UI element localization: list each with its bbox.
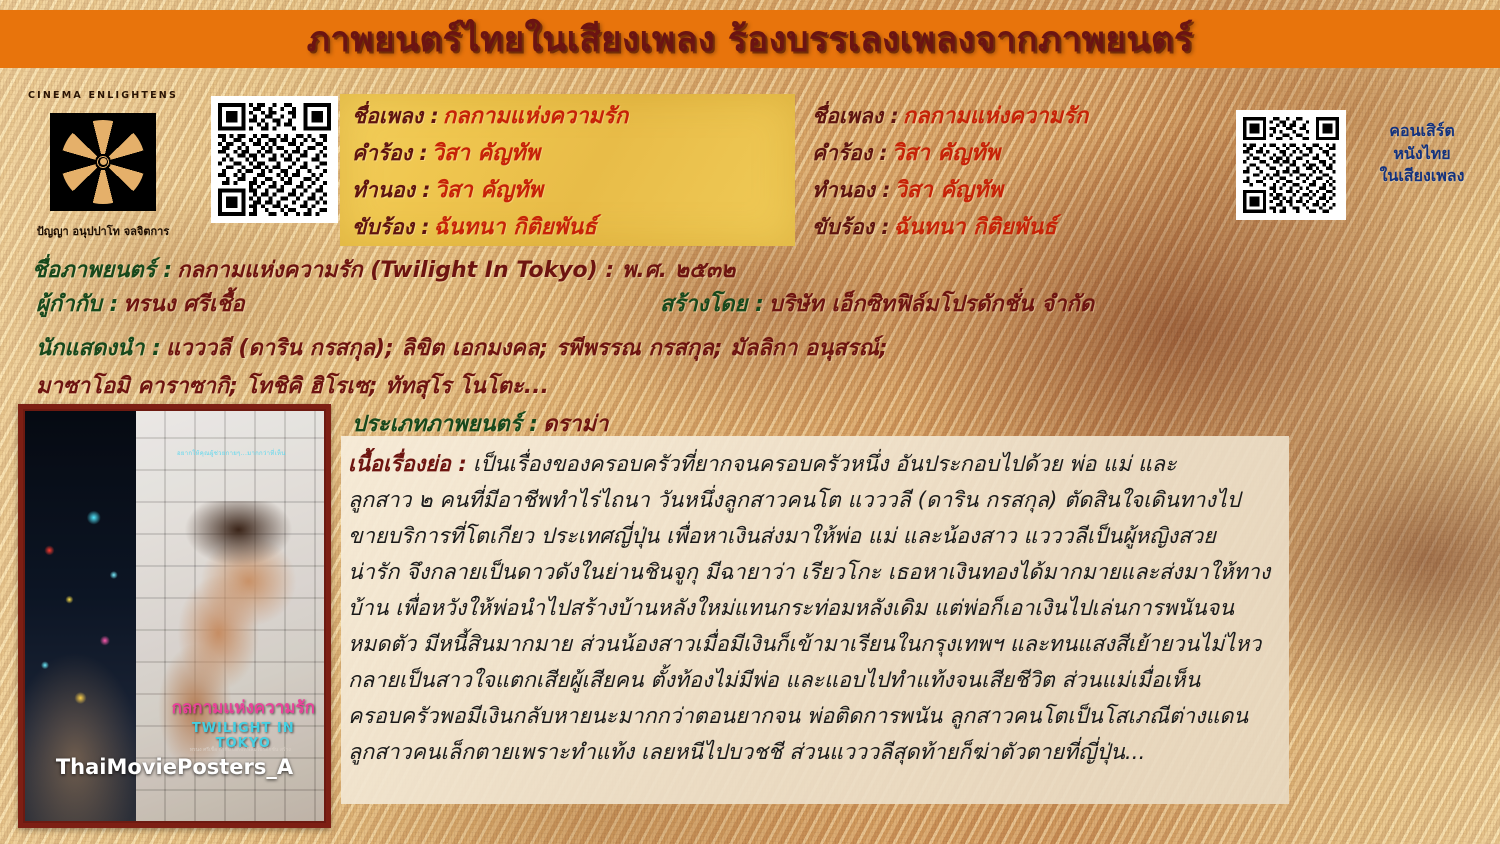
concert-label: คอนเสิร์ต หนังไทย ในเสียงเพลง: [1352, 120, 1492, 188]
concert-label-line3: ในเสียงเพลง: [1352, 165, 1492, 188]
logo-top-text: CINEMA ENLIGHTENS: [28, 90, 178, 101]
synopsis-line-text: น่ารัก จึงกลายเป็นดาวดังในย่านชินจูกุ มี…: [348, 555, 1270, 589]
song-row: คำร้อง :วิสา คัญทัพ: [812, 135, 1272, 172]
song-value: วิสา คัญทัพ: [435, 172, 543, 207]
song-row: ชื่อเพลง :กลกามแห่งความรัก: [812, 98, 1272, 135]
song-label: ทำนอง :: [812, 174, 891, 207]
song-row: ชื่อเพลง :กลกามแห่งความรัก: [352, 98, 792, 135]
film-title-label: ชื่อภาพยนตร์ :: [32, 258, 172, 283]
producer-label: สร้างโดย :: [660, 292, 764, 317]
synopsis-line: ลูกสาวคนเล็กตายเพราะทำแท้ง เลยหนีไปบวชชี…: [348, 734, 1288, 770]
synopsis-line-text: ลูกสาว ๒ คนที่มีอาชีพทำไร่ไถนา วันหนึ่งล…: [348, 483, 1240, 517]
movie-poster[interactable]: อยากให้คุณผู้ช่วยกายๆ...มากกว่าที่เห็น ก…: [18, 404, 331, 828]
synopsis-line: ลูกสาว ๒ คนที่มีอาชีพทำไร่ไถนา วันหนึ่งล…: [348, 482, 1288, 518]
synopsis-line: หมดตัว มีหนี้สินมากมาย ส่วนน้องสาวเมื่อม…: [348, 626, 1288, 662]
song-row: ขับร้อง :ฉันทนา กิติยพันธ์: [352, 209, 792, 246]
page-title-bar: ภาพยนตร์ไทยในเสียงเพลง ร้องบรรเลงเพลงจาก…: [0, 10, 1500, 68]
song-label: ขับร้อง :: [352, 211, 430, 244]
director-label: ผู้กำกับ :: [36, 292, 118, 317]
synopsis-line: กลายเป็นสาวใจแตกเสียผู้เสียคน ตั้งท้องไม…: [348, 662, 1288, 698]
synopsis-line: น่ารัก จึงกลายเป็นดาวดังในย่านชินจูกุ มี…: [348, 554, 1288, 590]
song-label: คำร้อง :: [812, 137, 888, 170]
song-label: ชื่อเพลง :: [812, 100, 899, 133]
producer-row: สร้างโดย : บริษัท เอ็กซิทฟิล์มโปรดักชั่น…: [660, 286, 1094, 321]
poster-tagline: อยากให้คุณผู้ช่วยกายๆ...มากกว่าที่เห็น: [145, 448, 318, 458]
song-label: ทำนอง :: [352, 174, 431, 207]
cast-value-1: แวววลี (ดาริน กรสกุล); ลิขิต เอกมงคล; รพ…: [166, 336, 888, 361]
synopsis-line-text: ขายบริการที่โตเกียว ประเทศญี่ปุ่น เพื่อห…: [348, 519, 1216, 553]
concert-label-line2: หนังไทย: [1352, 143, 1492, 166]
synopsis-line-text: กลายเป็นสาวใจแตกเสียผู้เสียคน ตั้งท้องไม…: [348, 663, 1200, 697]
song-value: วิสา คัญทัพ: [892, 135, 1000, 170]
concert-label-line1: คอนเสิร์ต: [1352, 120, 1492, 143]
synopsis-line-text: ลูกสาวคนเล็กตายเพราะทำแท้ง เลยหนีไปบวชชี…: [348, 735, 1145, 769]
synopsis-line-text: เป็นเรื่องของครอบครัวที่ยากจนครอบครัวหนึ…: [473, 447, 1177, 481]
poster-credits: ทรนง ศรีเชื้อ กำกับ เอ็กซิทฟิล์มโปรดักชั…: [163, 747, 318, 755]
cinema-enlightens-logo: CINEMA ENLIGHTENS ปัญญา อนุปปาโท จลจิตกา…: [28, 90, 178, 240]
logo-bottom-text: ปัญญา อนุปปาโท จลจิตการ: [37, 222, 170, 240]
film-title-row: ชื่อภาพยนตร์ : กลกามแห่งความรัก (Twiligh…: [32, 252, 735, 287]
synopsis-line: เนื้อเรื่องย่อ : เป็นเรื่องของครอบครัวที…: [348, 446, 1288, 482]
synopsis-line: ครอบครัวพอมีเงินกลับหายนะมากกว่าตอนยากจน…: [348, 698, 1288, 734]
qr-code-left[interactable]: [211, 96, 338, 223]
song-info-right: ชื่อเพลง :กลกามแห่งความรัก คำร้อง :วิสา …: [812, 98, 1272, 246]
cast-row-1: นักแสดงนำ : แวววลี (ดาริน กรสกุล); ลิขิต…: [36, 330, 888, 365]
film-title-value: กลกามแห่งความรัก (Twilight In Tokyo) : พ…: [177, 258, 735, 283]
song-info-left: ชื่อเพลง :กลกามแห่งความรัก คำร้อง :วิสา …: [352, 98, 792, 246]
song-value: กลกามแห่งความรัก: [443, 98, 628, 133]
synopsis-line-text: บ้าน เพื่อหวังให้พ่อนำไปสร้างบ้านหลังใหม…: [348, 591, 1234, 625]
synopsis-text: เนื้อเรื่องย่อ : เป็นเรื่องของครอบครัวที…: [348, 446, 1288, 770]
director-row: ผู้กำกับ : ทรนง ศรีเชื้อ: [36, 286, 245, 321]
synopsis-line: บ้าน เพื่อหวังให้พ่อนำไปสร้างบ้านหลังใหม…: [348, 590, 1288, 626]
synopsis-line: ขายบริการที่โตเกียว ประเทศญี่ปุ่น เพื่อห…: [348, 518, 1288, 554]
song-label: ขับร้อง :: [812, 211, 890, 244]
genre-label: ประเภทภาพยนตร์ :: [352, 412, 538, 437]
poster-thai-title: กลกามแห่งความรัก: [166, 694, 321, 721]
cast-label: นักแสดงนำ :: [36, 336, 161, 361]
song-value: ฉันทนา กิติยพันธ์: [434, 209, 597, 244]
song-row: ทำนอง :วิสา คัญทัพ: [812, 172, 1272, 209]
song-row: คำร้อง :วิสา คัญทัพ: [352, 135, 792, 172]
synopsis-line-text: หมดตัว มีหนี้สินมากมาย ส่วนน้องสาวเมื่อม…: [348, 627, 1261, 661]
page-title: ภาพยนตร์ไทยในเสียงเพลง ร้องบรรเลงเพลงจาก…: [307, 12, 1194, 67]
synopsis-heading: เนื้อเรื่องย่อ :: [348, 447, 467, 481]
cast-value-2: มาซาโอมิ คาราซากิ; โทชิคิ ฮิโรเซ; ทัทสุโ…: [36, 374, 549, 399]
song-label: ชื่อเพลง :: [352, 100, 439, 133]
song-row: ขับร้อง :ฉันทนา กิติยพันธ์: [812, 209, 1272, 246]
film-reel-icon: [50, 113, 156, 211]
song-value: วิสา คัญทัพ: [432, 135, 540, 170]
poster-watermark: ThaiMoviePosters_A: [25, 755, 324, 779]
song-value: ฉันทนา กิติยพันธ์: [894, 209, 1057, 244]
cast-row-2: มาซาโอมิ คาราซากิ; โทชิคิ ฮิโรเซ; ทัทสุโ…: [36, 368, 549, 403]
song-value: กลกามแห่งความรัก: [903, 98, 1088, 133]
song-label: คำร้อง :: [352, 137, 428, 170]
producer-value: บริษัท เอ็กซิทฟิล์มโปรดักชั่น จำกัด: [769, 292, 1094, 317]
synopsis-line-text: ครอบครัวพอมีเงินกลับหายนะมากกว่าตอนยากจน…: [348, 699, 1248, 733]
movie-poster-image: อยากให้คุณผู้ช่วยกายๆ...มากกว่าที่เห็น ก…: [23, 409, 326, 823]
director-value: ทรนง ศรีเชื้อ: [123, 292, 244, 317]
song-row: ทำนอง :วิสา คัญทัพ: [352, 172, 792, 209]
song-value: วิสา คัญทัพ: [895, 172, 1003, 207]
genre-value: ดราม่า: [543, 412, 608, 437]
qr-code-icon: [218, 103, 331, 216]
